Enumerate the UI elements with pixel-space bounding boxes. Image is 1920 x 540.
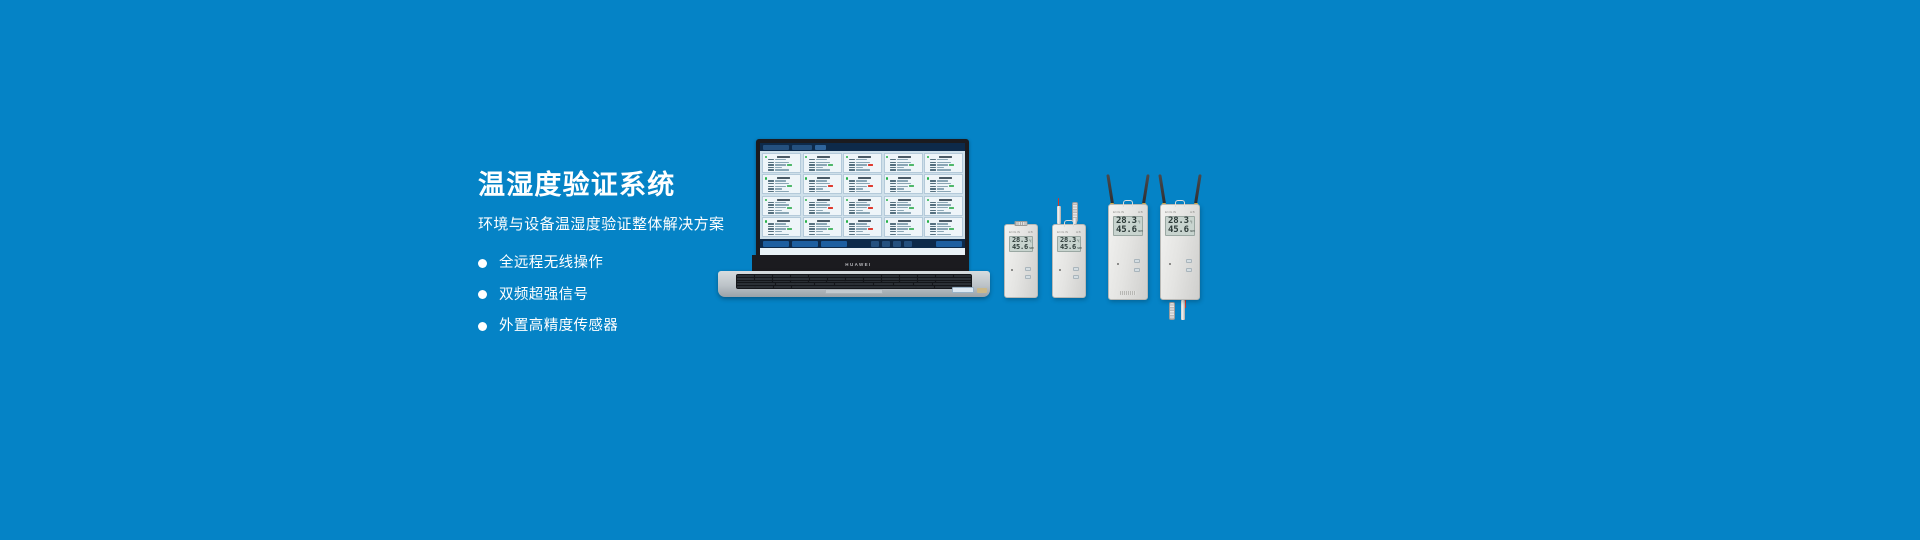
sensor-card-row [930, 202, 960, 204]
sensor-card-row [890, 162, 920, 164]
sensor-card-row [768, 236, 798, 237]
device-button-up[interactable] [1186, 259, 1192, 263]
pagination-prev-button[interactable] [882, 241, 890, 247]
key-arrow [935, 286, 953, 288]
sensor-field-value [775, 234, 789, 235]
sensor-card-row [890, 204, 920, 206]
sensor-card-row [809, 210, 839, 212]
sensor-card-row [890, 172, 920, 173]
sensor-field-value [897, 162, 911, 163]
sensor-card-title [939, 220, 952, 222]
keyboard-row [737, 286, 971, 288]
sensor-field-label [849, 167, 855, 168]
sensor-card-row [809, 167, 839, 169]
sensor-card-title [817, 220, 830, 222]
sensor-field-value [937, 159, 948, 160]
sensor-card-row [768, 193, 798, 194]
sensor-field-label [809, 159, 815, 160]
pagination-last-button[interactable] [904, 241, 912, 247]
start-button[interactable] [763, 241, 789, 247]
sensor-field-value [856, 210, 863, 211]
sensor-card-row [768, 202, 798, 204]
device-brand-left: ENGIN [1113, 210, 1125, 214]
sensor-card[interactable] [843, 153, 882, 173]
key [791, 281, 808, 283]
device-button-down[interactable] [1073, 275, 1079, 279]
keyboard-row [737, 283, 971, 285]
sensor-field-label [768, 164, 774, 165]
key-fn [755, 286, 773, 288]
sensor-field-value [937, 188, 944, 189]
app-topbar [760, 143, 965, 151]
sensor-field-label [809, 172, 815, 173]
sensor-card-title [858, 156, 871, 158]
sensor-card-title [777, 199, 790, 201]
sensor-card-row [809, 183, 839, 185]
sensor-field-label [930, 186, 936, 187]
sensor-card-row [809, 228, 839, 230]
status-dot-icon [765, 177, 767, 179]
pagination-next-button[interactable] [893, 241, 901, 247]
sensor-field-label [930, 236, 936, 237]
sensor-card-row [768, 169, 798, 171]
sensor-field-label [890, 172, 896, 173]
sensor-card-row [849, 231, 879, 233]
sensor-field-value [775, 226, 789, 227]
sensor-field-value [937, 215, 944, 216]
sensor-card[interactable] [884, 174, 923, 194]
sensor-card-row [930, 172, 960, 173]
sensor-field-value [856, 212, 870, 213]
sensor-card[interactable] [884, 217, 923, 237]
sensor-field-value [937, 228, 948, 229]
sensor-field-value [897, 183, 911, 184]
status-dot-icon [805, 177, 807, 179]
sensor-field-value [816, 207, 827, 208]
sensor-field-label [768, 159, 774, 160]
sensor-field-label [768, 207, 774, 208]
sensor-field-label [890, 183, 896, 184]
device-wireless-logger-probe: ENGIN HB 28.3 ℃ 45.6 %RH [1160, 204, 1200, 320]
tab-settings[interactable] [815, 145, 826, 150]
antenna-left-icon [1158, 174, 1166, 204]
sensor-field-value [937, 223, 948, 224]
status-dot-icon [886, 199, 888, 201]
sensor-card-row [930, 167, 960, 169]
sensor-field-label [768, 186, 774, 187]
huawei-logo: HUAWEI [845, 262, 871, 267]
status-badge [909, 228, 914, 230]
lcd-humidity-line: 45.6 %RH [1060, 244, 1078, 251]
sensor-field-label [930, 223, 936, 224]
sensor-field-value [816, 162, 830, 163]
status-badge [787, 228, 792, 230]
sensor-field-value [775, 228, 786, 229]
status-dot-icon [846, 220, 848, 222]
sensor-field-label [849, 236, 855, 237]
sensor-card-row [768, 159, 798, 161]
spec-sticker [952, 287, 974, 293]
sensor-field-value [856, 204, 870, 205]
sensor-field-label [849, 162, 855, 163]
sensor-card[interactable] [803, 196, 842, 216]
device-button-up[interactable] [1025, 267, 1031, 271]
sensor-card-row [809, 233, 839, 235]
sensor-field-label [849, 204, 855, 205]
sensor-card[interactable] [884, 153, 923, 173]
sensor-field-label [809, 164, 815, 165]
sensor-field-value [856, 186, 867, 187]
device-brand-right: HB [1028, 230, 1033, 234]
sensor-card-row [768, 223, 798, 225]
sensor-card[interactable] [762, 153, 801, 173]
sensor-field-value [897, 215, 904, 216]
sensor-card-row [809, 191, 839, 193]
device-brand-right: HB [1190, 210, 1195, 214]
sensor-field-label [768, 193, 774, 194]
sensor-field-label [890, 188, 896, 189]
sensor-card-title [858, 220, 871, 222]
sensor-field-label [890, 202, 896, 203]
device-button-down[interactable] [1134, 268, 1140, 272]
sensor-field-value [897, 169, 911, 170]
sensor-card[interactable] [843, 174, 882, 194]
sensor-field-label [849, 226, 855, 227]
sensor-field-value [856, 164, 867, 165]
sensor-field-label [809, 167, 815, 168]
sensor-field-value [897, 186, 908, 187]
sensor-field-value [816, 226, 830, 227]
sensor-field-value [897, 234, 911, 235]
sensor-field-label [849, 172, 855, 173]
sensor-field-label [768, 180, 774, 181]
status-led-icon [1059, 269, 1061, 271]
sensor-card-row [930, 188, 960, 190]
sensor-card-row [890, 233, 920, 235]
sensor-card-row [890, 210, 920, 212]
sensor-card[interactable] [803, 217, 842, 237]
sensor-field-value [816, 204, 830, 205]
sensor-field-label [768, 234, 774, 235]
sensor-field-label [849, 228, 855, 229]
sensor-field-label [930, 204, 936, 205]
sensor-card[interactable] [924, 174, 963, 194]
sensor-field-value [937, 226, 951, 227]
sensor-field-label [890, 162, 896, 163]
sensor-field-label [768, 167, 774, 168]
sensor-card-row [849, 169, 879, 171]
sensor-field-label [849, 159, 855, 160]
sensor-card[interactable] [803, 174, 842, 194]
sensor-field-label [849, 223, 855, 224]
sensor-field-label [930, 226, 936, 227]
tab-realtime-monitor[interactable] [763, 145, 789, 150]
status-dot-icon [927, 220, 929, 222]
sensor-field-label [930, 202, 936, 203]
sensor-field-value [775, 186, 786, 187]
certification-sticker [977, 288, 987, 293]
sensor-card-row [890, 193, 920, 194]
key [835, 283, 854, 285]
sensor-card[interactable] [843, 196, 882, 216]
sensor-field-value [937, 207, 948, 208]
refresh-data-button[interactable] [821, 241, 847, 247]
sensor-card[interactable] [803, 153, 842, 173]
sensor-field-value [856, 234, 870, 235]
tab-history-data[interactable] [792, 145, 812, 150]
key [918, 278, 935, 280]
sensor-field-label [849, 215, 855, 216]
sensor-field-label [809, 186, 815, 187]
pagination-first-button[interactable] [871, 241, 879, 247]
sensor-card-row [809, 162, 839, 164]
sensor-card-row [890, 231, 920, 233]
sensor-field-value [897, 167, 904, 168]
sensor-card-row [930, 164, 960, 166]
alarm-badge [828, 185, 833, 187]
key [900, 278, 917, 280]
sensor-field-value [856, 169, 870, 170]
sensor-card-row [768, 231, 798, 233]
sensor-card-row [890, 212, 920, 214]
key [755, 278, 772, 280]
sensor-field-label [930, 167, 936, 168]
status-dot-icon [805, 199, 807, 201]
sensor-field-value [856, 215, 863, 216]
device-brand-left: ENGIN [1057, 230, 1069, 234]
sensor-field-value [937, 172, 944, 173]
status-dot-icon [927, 177, 929, 179]
sensor-field-label [809, 234, 815, 235]
sensor-card-row [930, 215, 960, 216]
antenna-left-icon [1106, 174, 1114, 204]
sensor-card-row [890, 188, 920, 190]
sensor-card-row [768, 226, 798, 228]
lcd-humidity-value: 45.6 [1116, 226, 1137, 235]
sensor-card-row [930, 204, 960, 206]
device-button-down[interactable] [1025, 275, 1031, 279]
humidity-probe-icon [1169, 302, 1175, 320]
sensor-field-label [930, 212, 936, 213]
sensor-card-row [849, 193, 879, 194]
sensor-field-label [809, 202, 815, 203]
sensor-card-row [930, 210, 960, 212]
status-badge [787, 164, 792, 166]
sensor-field-label [768, 223, 774, 224]
sensor-card[interactable] [762, 217, 801, 237]
sensor-field-value [816, 167, 823, 168]
sensor-card[interactable] [924, 217, 963, 237]
status-badge [949, 207, 954, 209]
key-space [792, 286, 915, 288]
sensor-field-label [809, 212, 815, 213]
sensor-card-row [930, 169, 960, 171]
laptop-screen [760, 143, 965, 255]
sensor-field-label [890, 186, 896, 187]
sensor-card-row [768, 164, 798, 166]
sensor-card-row [849, 202, 879, 204]
sensor-card[interactable] [762, 174, 801, 194]
sensor-field-label [849, 231, 855, 232]
sensor-field-label [930, 228, 936, 229]
key [776, 283, 795, 285]
alarm-badge [868, 207, 873, 209]
sensor-card-row [890, 202, 920, 204]
key [936, 275, 953, 277]
status-badge [909, 185, 914, 187]
sensor-field-value [937, 204, 951, 205]
sensor-field-label [809, 210, 815, 211]
sensor-field-value [897, 223, 908, 224]
sensor-field-label [849, 207, 855, 208]
sensor-field-label [768, 162, 774, 163]
sensor-card-title [898, 156, 911, 158]
sensor-field-value [937, 202, 948, 203]
sensor-field-label [849, 202, 855, 203]
sensor-field-label [890, 210, 896, 211]
sensor-field-value [775, 231, 782, 232]
key [773, 278, 790, 280]
sensor-card-row [809, 204, 839, 206]
key [845, 275, 862, 277]
device-brand-row: ENGIN HB [1161, 210, 1199, 214]
sensor-field-value [937, 167, 944, 168]
sensor-field-value [775, 191, 789, 192]
sensor-card-title [898, 199, 911, 201]
exit-system-button[interactable] [936, 241, 962, 247]
sensor-field-value [937, 231, 944, 232]
sensor-card-title [817, 156, 830, 158]
sensor-field-label [890, 236, 896, 237]
key-shift-left [737, 283, 775, 285]
sensor-field-value [775, 207, 786, 208]
keyboard-row [737, 275, 971, 277]
sensor-card-row [849, 188, 879, 190]
sensor-field-value [897, 202, 908, 203]
sensor-field-label [809, 183, 815, 184]
sensor-card-title [939, 199, 952, 201]
key [864, 278, 881, 280]
sensor-card-row [849, 212, 879, 214]
sensor-field-value [816, 202, 827, 203]
sensor-field-value [937, 164, 948, 165]
sensor-card-row [930, 193, 960, 194]
sensor-field-label [930, 210, 936, 211]
sensor-field-value [856, 167, 863, 168]
device-brand-row: ENGIN HB [1109, 210, 1147, 214]
sensor-field-value [816, 234, 830, 235]
sensor-device-group: ENGIN HB 28.3 ℃ 45.6 %RH [1000, 180, 1230, 320]
device-data-logger-probe: ENGIN HB 28.3 ℃ 45.6 %RH [1052, 224, 1086, 298]
lcd-humidity-line: 45.6 %RH [1168, 226, 1192, 235]
device-brand-right: HB [1138, 210, 1143, 214]
sensor-field-label [890, 164, 896, 165]
key [894, 283, 913, 285]
status-dot-icon [927, 199, 929, 201]
hanger-clip-icon [1015, 221, 1028, 226]
key [809, 275, 826, 277]
sensor-field-value [816, 191, 830, 192]
sensor-field-label [768, 210, 774, 211]
sensor-card-row [768, 180, 798, 182]
sensor-card[interactable] [924, 153, 963, 173]
laptop-keyboard[interactable] [736, 274, 972, 289]
sensor-card-row [849, 236, 879, 237]
device-wireless-logger-antenna: ENGIN HB 28.3 ℃ 45.6 %RH [1108, 204, 1148, 300]
sensor-card[interactable] [924, 196, 963, 216]
sensor-field-label [768, 228, 774, 229]
device-button-up[interactable] [1073, 267, 1079, 271]
alarm-badge [868, 164, 873, 166]
sensor-field-value [775, 236, 782, 237]
sensor-field-value [897, 207, 908, 208]
sensor-card-row [809, 223, 839, 225]
sensor-card-row [809, 186, 839, 188]
sensor-card[interactable] [884, 196, 923, 216]
key [954, 275, 971, 277]
sensor-field-label [849, 212, 855, 213]
sensor-field-label [930, 164, 936, 165]
sensor-field-label [890, 180, 896, 181]
sensor-card-row [849, 180, 879, 182]
sensor-card-row [890, 236, 920, 237]
status-dot-icon [886, 156, 888, 158]
product-banner: 温湿度验证系统 环境与设备温湿度验证整体解决方案 全远程无线操作 双频超强信号 … [0, 0, 1920, 540]
export-data-button[interactable] [792, 241, 818, 247]
keyboard-row [737, 278, 971, 280]
sensor-field-value [897, 159, 908, 160]
sensor-card-row [809, 236, 839, 237]
status-badge [828, 228, 833, 230]
sensor-field-label [890, 223, 896, 224]
alarm-badge [868, 185, 873, 187]
sensor-field-value [856, 191, 870, 192]
sensor-card-row [849, 215, 879, 216]
sensor-field-value [775, 164, 786, 165]
sensor-field-value [775, 223, 786, 224]
sensor-card-row [768, 210, 798, 212]
sensor-card-title [777, 156, 790, 158]
key [828, 278, 845, 280]
sensor-card-row [809, 159, 839, 161]
sensor-card-row [890, 223, 920, 225]
sensor-card-row [930, 212, 960, 214]
status-dot-icon [765, 199, 767, 201]
feature-label: 全远程无线操作 [499, 256, 603, 271]
sensor-card-row [809, 215, 839, 216]
sensor-field-label [890, 215, 896, 216]
sensor-field-value [937, 210, 944, 211]
device-brand-left: ENGIN [1165, 210, 1177, 214]
sensor-field-value [775, 180, 786, 181]
sensor-card[interactable] [843, 217, 882, 237]
sensor-card-row [768, 167, 798, 169]
sensor-field-label [809, 236, 815, 237]
key [882, 275, 899, 277]
device-button-down[interactable] [1186, 268, 1192, 272]
device-button-up[interactable] [1134, 259, 1140, 263]
sensor-card-row [849, 167, 879, 169]
sensor-field-label [890, 207, 896, 208]
sensor-field-value [897, 180, 908, 181]
sensor-field-label [890, 191, 896, 192]
sensor-card-row [809, 164, 839, 166]
sensor-card-row [768, 233, 798, 235]
sensor-card-title [858, 199, 871, 201]
device-brand-right: HB [1076, 230, 1081, 234]
sensor-card[interactable] [762, 196, 801, 216]
laptop-trackpad[interactable] [825, 289, 883, 294]
